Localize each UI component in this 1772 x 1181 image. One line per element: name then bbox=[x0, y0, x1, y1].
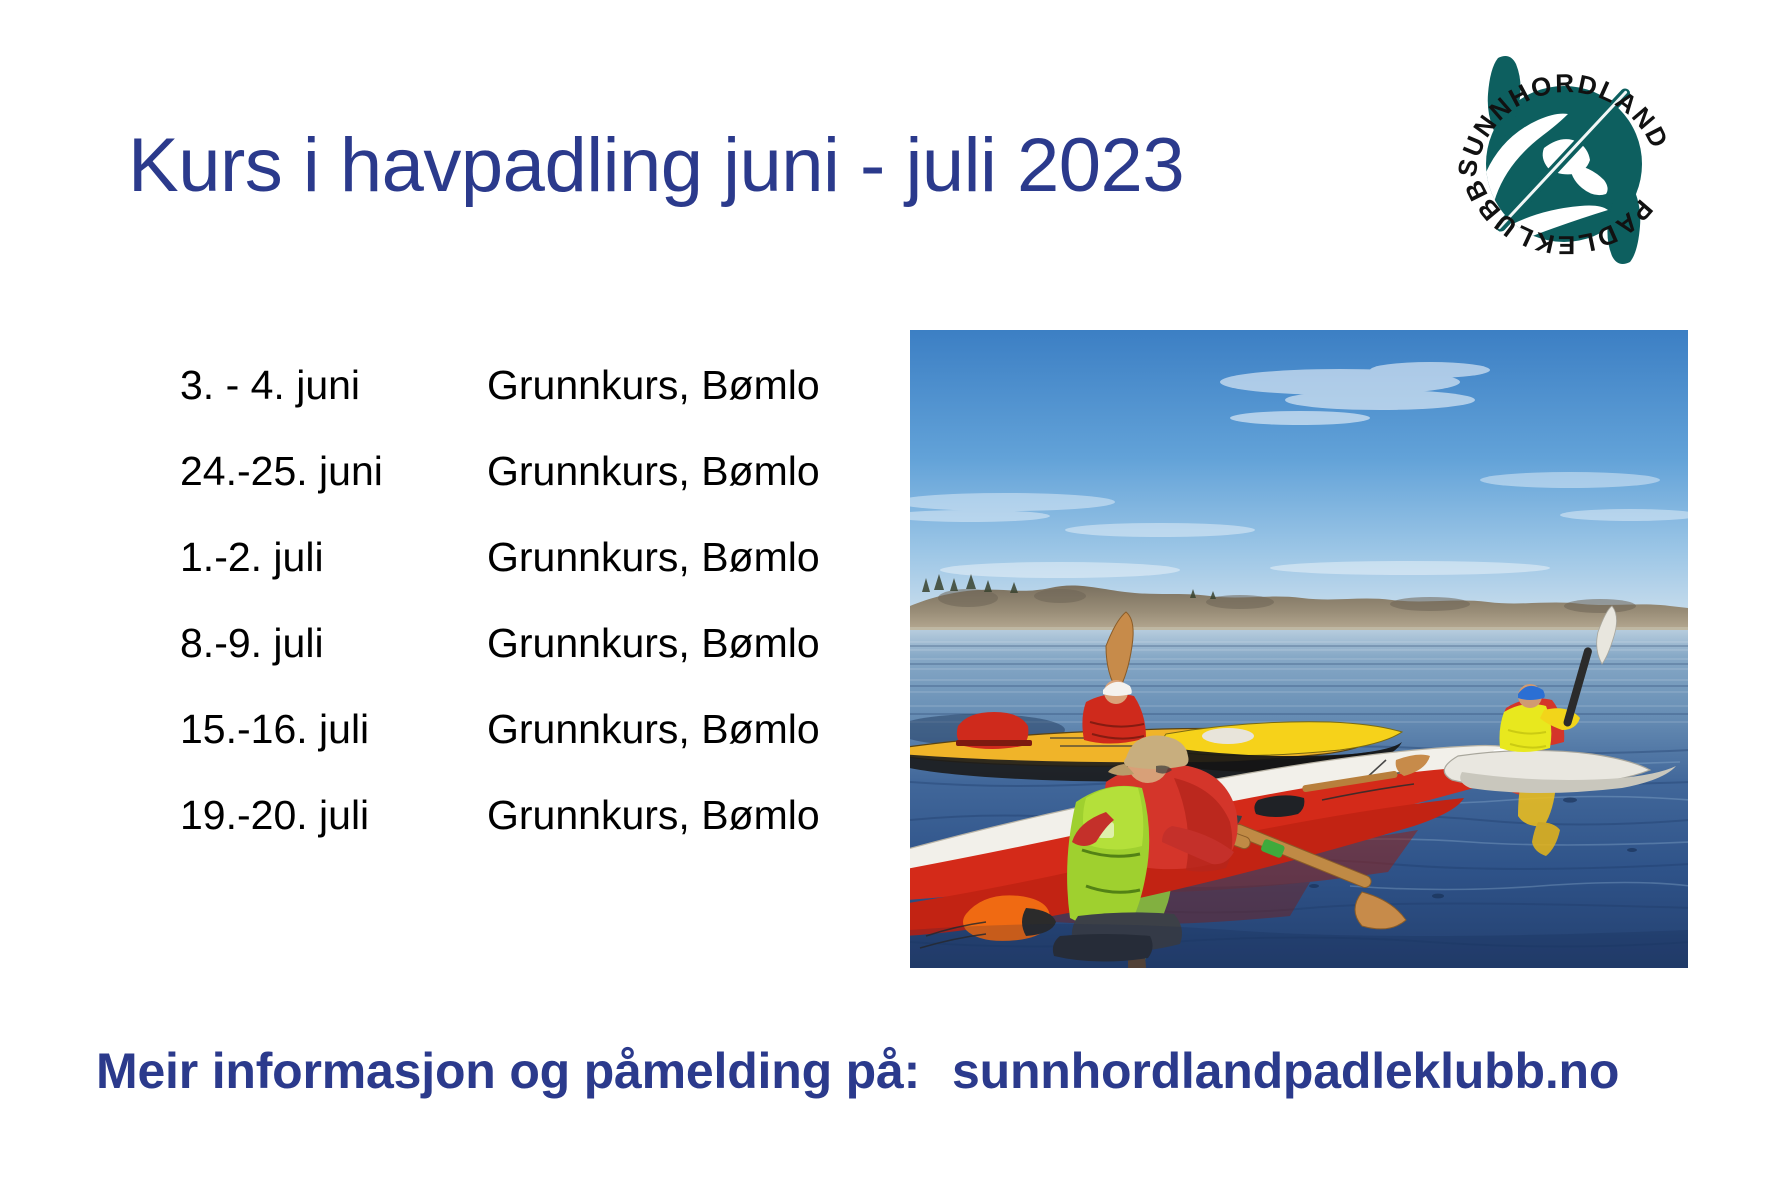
list-item: 1.-2. juli Grunnkurs, Bømlo bbox=[180, 534, 820, 620]
course-name: Grunnkurs, Bømlo bbox=[487, 534, 820, 581]
course-name: Grunnkurs, Bømlo bbox=[487, 620, 820, 667]
footer-label: Meir informasjon og påmelding på: bbox=[96, 1042, 920, 1100]
footer: Meir informasjon og påmelding på: sunnho… bbox=[96, 1042, 1619, 1100]
course-name: Grunnkurs, Bømlo bbox=[487, 706, 820, 753]
list-item: 15.-16. juli Grunnkurs, Bømlo bbox=[180, 706, 820, 792]
course-schedule-list: 3. - 4. juni Grunnkurs, Bømlo 24.-25. ju… bbox=[180, 362, 820, 878]
course-date: 15.-16. juli bbox=[180, 706, 487, 753]
course-date: 1.-2. juli bbox=[180, 534, 487, 581]
list-item: 19.-20. juli Grunnkurs, Bømlo bbox=[180, 792, 820, 878]
course-name: Grunnkurs, Bømlo bbox=[487, 448, 820, 495]
course-date: 24.-25. juni bbox=[180, 448, 487, 495]
course-name: Grunnkurs, Bømlo bbox=[487, 792, 820, 839]
course-date: 3. - 4. juni bbox=[180, 362, 487, 409]
sunnhordland-padleklubb-logo: SUNNHORDLAND PADLEKLUBB bbox=[1440, 36, 1688, 284]
footer-website-url[interactable]: sunnhordlandpadleklubb.no bbox=[952, 1042, 1619, 1100]
course-name: Grunnkurs, Bømlo bbox=[487, 362, 820, 409]
sea-kayaking-illustration bbox=[910, 330, 1688, 968]
club-logo-icon: SUNNHORDLAND PADLEKLUBB bbox=[1440, 36, 1688, 284]
sea-kayaking-photo bbox=[910, 330, 1688, 968]
page-title: Kurs i havpadling juni - juli 2023 bbox=[128, 126, 1184, 206]
list-item: 3. - 4. juni Grunnkurs, Bømlo bbox=[180, 362, 820, 448]
course-date: 8.-9. juli bbox=[180, 620, 487, 667]
list-item: 8.-9. juli Grunnkurs, Bømlo bbox=[180, 620, 820, 706]
course-date: 19.-20. juli bbox=[180, 792, 487, 839]
list-item: 24.-25. juni Grunnkurs, Bømlo bbox=[180, 448, 820, 534]
